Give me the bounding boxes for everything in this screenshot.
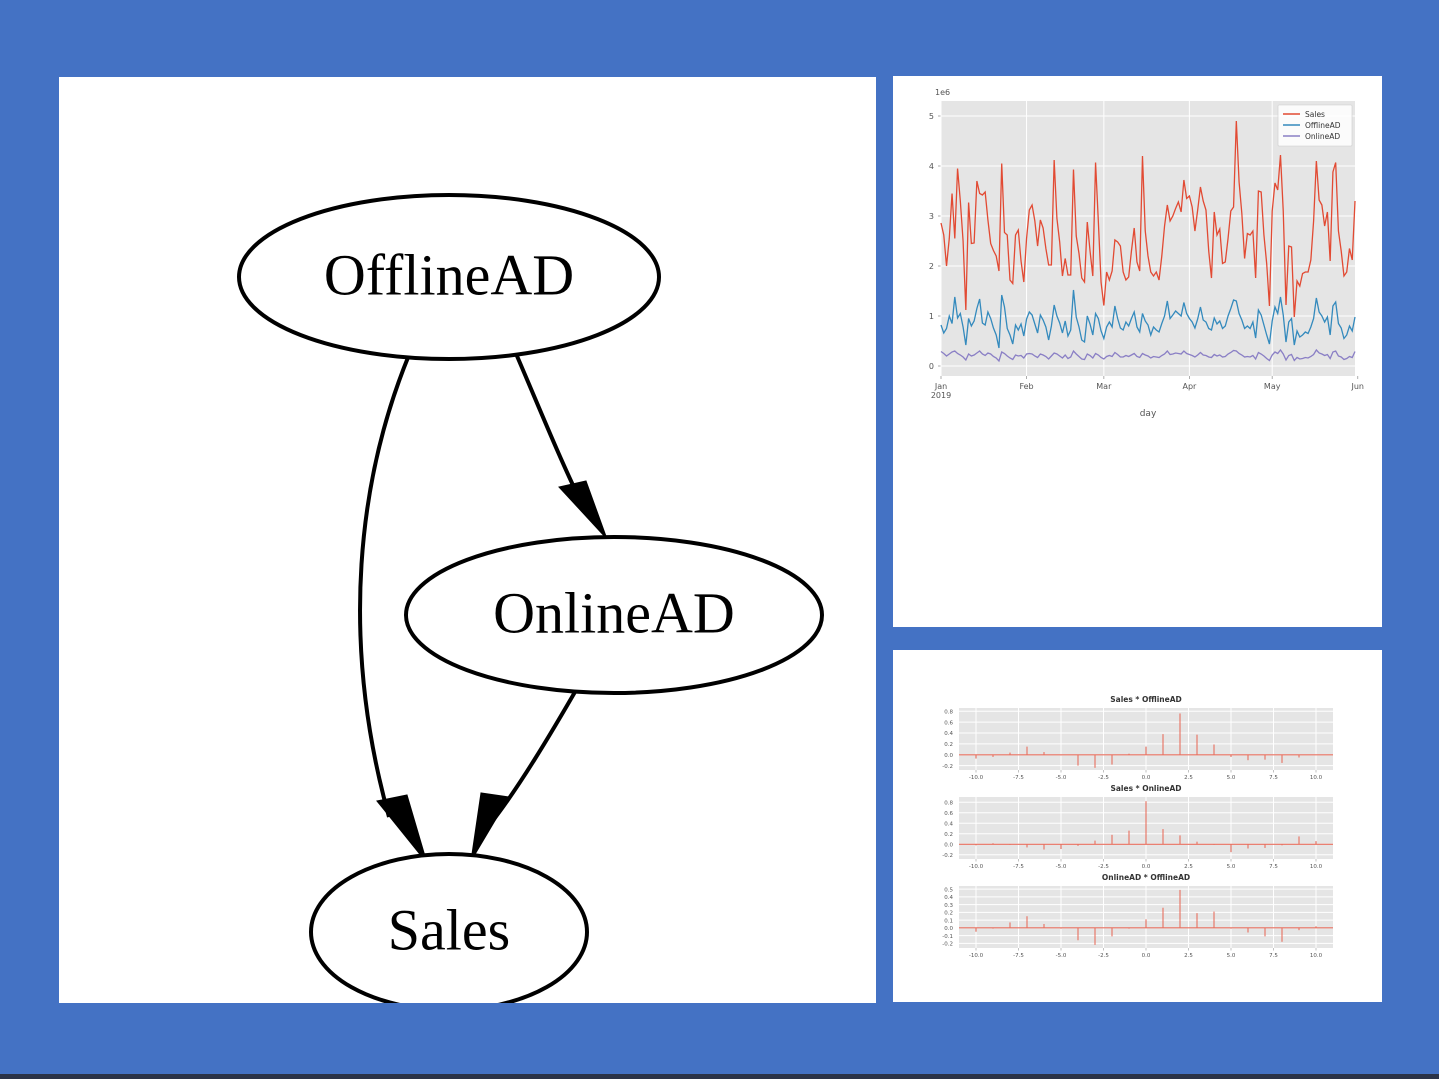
dag-node-sales[interactable]: Sales xyxy=(311,854,587,1003)
ccf-x-tick-label: 5.0 xyxy=(1227,775,1236,781)
ccf-x-tick-label: -10.0 xyxy=(969,775,984,781)
ccf-y-tick-label: 0.4 xyxy=(944,895,953,901)
y-tick-label: 3 xyxy=(929,212,934,221)
dag-node-offlinead-label: OfflineAD xyxy=(324,242,574,307)
ccf-x-tick-label: -7.5 xyxy=(1013,775,1024,781)
ccf-y-tick-label: 0.0 xyxy=(944,842,953,848)
slide-canvas: OfflineAD OnlineAD Sales 0123451e6JanFeb… xyxy=(0,0,1439,1079)
ccf-subplot-1: Sales * OnlineAD0.80.60.40.20.0-0.2-10.0… xyxy=(942,784,1333,870)
dag-edge-onlinead-to-sales xyxy=(471,685,579,861)
x-tick-label: Mar xyxy=(1096,382,1112,391)
x-tick-label: Feb xyxy=(1019,382,1033,391)
bottom-strip xyxy=(0,1074,1439,1079)
dag-edge-offlinead-to-onlinead xyxy=(514,349,607,539)
ccf-y-tick-label: 0.4 xyxy=(944,821,953,827)
x-tick-label: Jan xyxy=(934,382,947,391)
y-axis-exponent-label: 1e6 xyxy=(935,88,950,97)
x-tick-label: Jun xyxy=(1351,382,1365,391)
y-tick-label: 4 xyxy=(929,162,934,171)
ccf-y-tick-label: 0.6 xyxy=(944,720,953,726)
ccf-x-tick-label: 0.0 xyxy=(1142,864,1151,870)
x-axis-label: day xyxy=(1140,409,1157,419)
ccf-x-tick-label: 10.0 xyxy=(1310,775,1323,781)
x-tick-year-label: 2019 xyxy=(931,391,951,400)
ccf-y-tick-label: 0.5 xyxy=(944,887,953,893)
ccf-x-tick-label: 5.0 xyxy=(1227,864,1236,870)
ccf-x-tick-label: -7.5 xyxy=(1013,953,1024,959)
causal-dag-panel: OfflineAD OnlineAD Sales xyxy=(59,77,876,1003)
ccf-y-tick-label: 0.6 xyxy=(944,811,953,817)
ccf-title: Sales * OfflineAD xyxy=(1110,695,1182,704)
timeseries-chart: 0123451e6JanFebMarAprMayJun2019daySalesO… xyxy=(893,76,1382,627)
ccf-y-tick-label: -0.2 xyxy=(942,853,953,859)
ccf-x-tick-label: 0.0 xyxy=(1142,953,1151,959)
ccf-y-tick-label: 0.2 xyxy=(944,832,953,838)
dag-node-sales-label: Sales xyxy=(388,897,510,962)
ccf-x-tick-label: -10.0 xyxy=(969,953,984,959)
ccf-subplot-0: Sales * OfflineAD0.80.60.40.20.0-0.2-10.… xyxy=(942,695,1333,781)
legend-label-offlinead: OfflineAD xyxy=(1305,121,1341,130)
y-tick-label: 1 xyxy=(929,312,934,321)
causal-dag-graphic: OfflineAD OnlineAD Sales xyxy=(59,77,876,1003)
ccf-y-tick-label: 0.1 xyxy=(944,918,953,924)
ccf-x-tick-label: -7.5 xyxy=(1013,864,1024,870)
ccf-x-tick-label: 7.5 xyxy=(1269,953,1278,959)
crosscorrelation-panel: Sales * OfflineAD0.80.60.40.20.0-0.2-10.… xyxy=(893,650,1382,1002)
ccf-y-tick-label: 0.8 xyxy=(944,709,953,715)
x-tick-label: Apr xyxy=(1182,382,1197,391)
ccf-x-tick-label: 5.0 xyxy=(1227,953,1236,959)
ccf-y-tick-label: 0.3 xyxy=(944,903,953,909)
ccf-y-tick-label: -0.2 xyxy=(942,942,953,948)
ccf-x-tick-label: 0.0 xyxy=(1142,775,1151,781)
crosscorrelation-charts: Sales * OfflineAD0.80.60.40.20.0-0.2-10.… xyxy=(893,650,1382,1002)
legend-label-onlinead: OnlineAD xyxy=(1305,132,1340,141)
ccf-x-tick-label: 2.5 xyxy=(1184,775,1193,781)
ccf-y-tick-label: 0.2 xyxy=(944,742,953,748)
ccf-x-tick-label: 7.5 xyxy=(1269,775,1278,781)
ccf-y-tick-label: -0.2 xyxy=(942,764,953,770)
ccf-title: OnlineAD * OfflineAD xyxy=(1102,873,1190,882)
ccf-title: Sales * OnlineAD xyxy=(1110,784,1181,793)
ccf-x-tick-label: 10.0 xyxy=(1310,953,1323,959)
dag-node-onlinead-label: OnlineAD xyxy=(493,580,735,645)
y-tick-label: 0 xyxy=(929,362,934,371)
ccf-x-tick-label: -5.0 xyxy=(1056,953,1067,959)
ccf-x-tick-label: -2.5 xyxy=(1098,953,1109,959)
ccf-y-tick-label: 0.0 xyxy=(944,753,953,759)
ccf-x-tick-label: -2.5 xyxy=(1098,864,1109,870)
ccf-y-tick-label: -0.1 xyxy=(942,934,953,940)
dag-node-onlinead[interactable]: OnlineAD xyxy=(406,537,822,693)
y-tick-label: 2 xyxy=(929,262,934,271)
timeseries-panel: 0123451e6JanFebMarAprMayJun2019daySalesO… xyxy=(893,76,1382,627)
ccf-x-tick-label: 2.5 xyxy=(1184,864,1193,870)
y-tick-label: 5 xyxy=(929,112,934,121)
legend-label-sales: Sales xyxy=(1305,110,1325,119)
ccf-x-tick-label: 7.5 xyxy=(1269,864,1278,870)
ccf-y-tick-label: 0.8 xyxy=(944,800,953,806)
ccf-y-tick-label: 0.4 xyxy=(944,731,953,737)
ccf-x-tick-label: -2.5 xyxy=(1098,775,1109,781)
ccf-x-tick-label: -5.0 xyxy=(1056,775,1067,781)
dag-node-offlinead[interactable]: OfflineAD xyxy=(239,195,659,359)
ccf-y-tick-label: 0.2 xyxy=(944,911,953,917)
ccf-x-tick-label: -10.0 xyxy=(969,864,984,870)
ccf-x-tick-label: -5.0 xyxy=(1056,864,1067,870)
x-tick-label: May xyxy=(1264,382,1281,391)
ccf-x-tick-label: 10.0 xyxy=(1310,864,1323,870)
ccf-subplot-2: OnlineAD * OfflineAD0.50.40.30.20.10.0-0… xyxy=(942,873,1333,959)
ccf-y-tick-label: 0.0 xyxy=(944,926,953,932)
ccf-x-tick-label: 2.5 xyxy=(1184,953,1193,959)
